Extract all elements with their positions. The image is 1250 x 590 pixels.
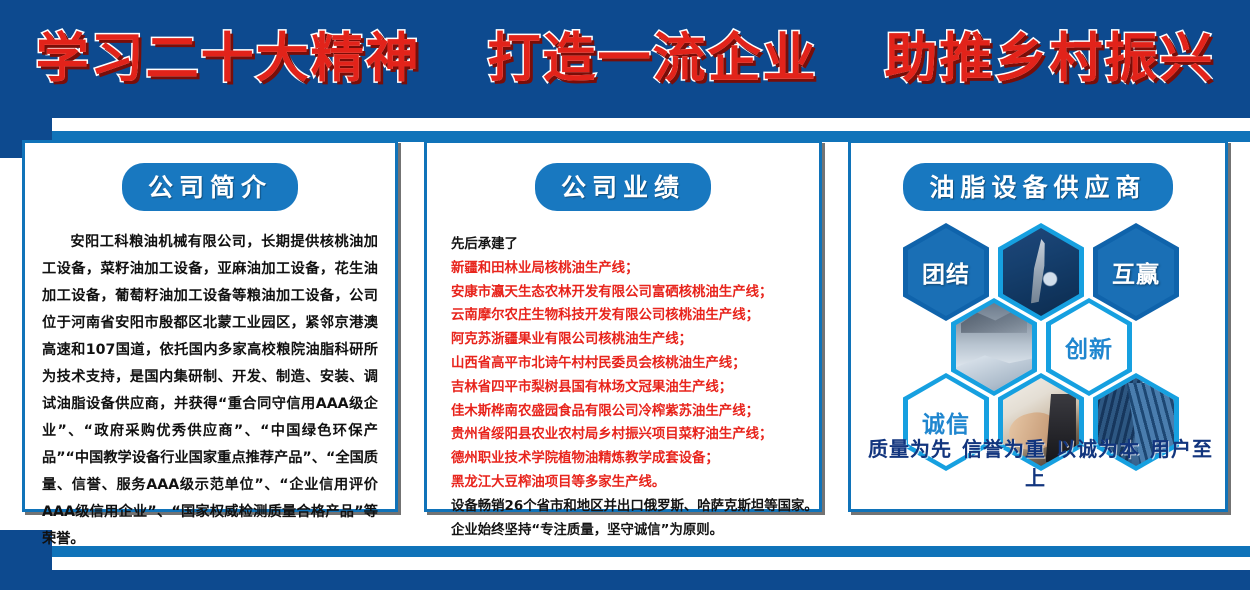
performance-project-line: 德州职业技术学院植物油精炼教学成套设备； bbox=[451, 447, 819, 471]
hex-huying-label: 互赢 bbox=[1112, 255, 1160, 289]
panel-title-supplier: 油脂设备供应商 bbox=[903, 163, 1172, 211]
banner-title-part-2: 打造一流企业 bbox=[488, 28, 818, 89]
performance-project-line: 贵州省绥阳县农业农村局乡村振兴项目菜籽油生产线； bbox=[451, 423, 819, 447]
performance-project-line: 吉林省四平市梨树县国有林场文冠果油生产线； bbox=[451, 376, 819, 400]
slogan-phrase: 质量为先 bbox=[868, 437, 952, 461]
supplier-slogan: 质量为先信誉为重以诚为本用户至上 bbox=[851, 433, 1225, 491]
performance-lead: 先后承建了 bbox=[451, 233, 819, 257]
performance-project-line: 安康市瀛天生态农林开发有限公司富硒核桃油生产线； bbox=[451, 281, 819, 305]
panel-company-intro: 公司简介 安阳工科粮油机械有限公司，长期提供核桃油加工设备，菜籽油加工设备，亚麻… bbox=[22, 140, 398, 512]
hex-tuanjie[interactable]: 团结 bbox=[903, 223, 989, 321]
performance-list: 先后承建了 新疆和田林业局核桃油生产线；安康市瀛天生态农林开发有限公司富硒核桃油… bbox=[451, 233, 819, 542]
performance-project-lines: 新疆和田林业局核桃油生产线；安康市瀛天生态农林开发有限公司富硒核桃油生产线；云南… bbox=[451, 257, 819, 495]
hexagon-cluster: 团结 互赢 创新 诚信 bbox=[851, 217, 1225, 462]
banner-title-part-3: 助推乡村振兴 bbox=[884, 28, 1214, 89]
performance-tail-lines: 设备畅销26个省市和地区并出口俄罗斯、哈萨克斯坦等国家。企业始终坚持“专注质量，… bbox=[451, 495, 819, 543]
slogan-phrase: 以诚为本 bbox=[1056, 437, 1140, 461]
slogan-phrase: 信誉为重 bbox=[962, 437, 1046, 461]
performance-tail-line: 设备畅销26个省市和地区并出口俄罗斯、哈萨克斯坦等国家。 bbox=[451, 495, 819, 519]
performance-project-line: 黑龙江大豆榨油项目等多家生产线。 bbox=[451, 471, 819, 495]
performance-tail-line: 企业始终坚持“专注质量，坚守诚信”为原则。 bbox=[451, 519, 819, 543]
success-mountain-icon bbox=[956, 303, 1032, 391]
hex-aircraft-carrier-photo[interactable] bbox=[998, 223, 1084, 321]
performance-project-line: 山西省高平市北诗午村村民委员会核桃油生产线； bbox=[451, 352, 819, 376]
performance-project-line: 新疆和田林业局核桃油生产线； bbox=[451, 257, 819, 281]
panel-title-company-performance: 公司业绩 bbox=[535, 163, 711, 211]
hex-huying[interactable]: 互赢 bbox=[1093, 223, 1179, 321]
aircraft-carrier-icon bbox=[1003, 228, 1079, 316]
hex-success-mountain-photo[interactable] bbox=[951, 298, 1037, 396]
hex-chuangxin-label: 创新 bbox=[1065, 330, 1113, 364]
performance-project-line: 佳木斯桦南农盛园食品有限公司冷榨紫苏油生产线； bbox=[451, 400, 819, 424]
banner-title: 学习二十大精神 打造一流企业 助推乡村振兴 bbox=[36, 16, 1215, 92]
panel-supplier: 油脂设备供应商 团结 互赢 创新 诚信 bbox=[848, 140, 1228, 512]
panel-title-company-intro: 公司简介 bbox=[122, 163, 298, 211]
panel-company-performance: 公司业绩 先后承建了 新疆和田林业局核桃油生产线；安康市瀛天生态农林开发有限公司… bbox=[424, 140, 822, 512]
hex-chuangxin[interactable]: 创新 bbox=[1046, 298, 1132, 396]
company-intro-text: 安阳工科粮油机械有限公司，长期提供核桃油加工设备，菜籽油加工设备，亚麻油加工设备… bbox=[42, 229, 378, 553]
performance-project-line: 阿克苏浙疆果业有限公司核桃油生产线； bbox=[451, 328, 819, 352]
banner-title-part-1: 学习二十大精神 bbox=[36, 28, 421, 89]
performance-project-line: 云南摩尔农庄生物科技开发有限公司核桃油生产线； bbox=[451, 304, 819, 328]
hex-tuanjie-label: 团结 bbox=[922, 255, 970, 289]
banner: 学习二十大精神 打造一流企业 助推乡村振兴 bbox=[0, 0, 1250, 108]
